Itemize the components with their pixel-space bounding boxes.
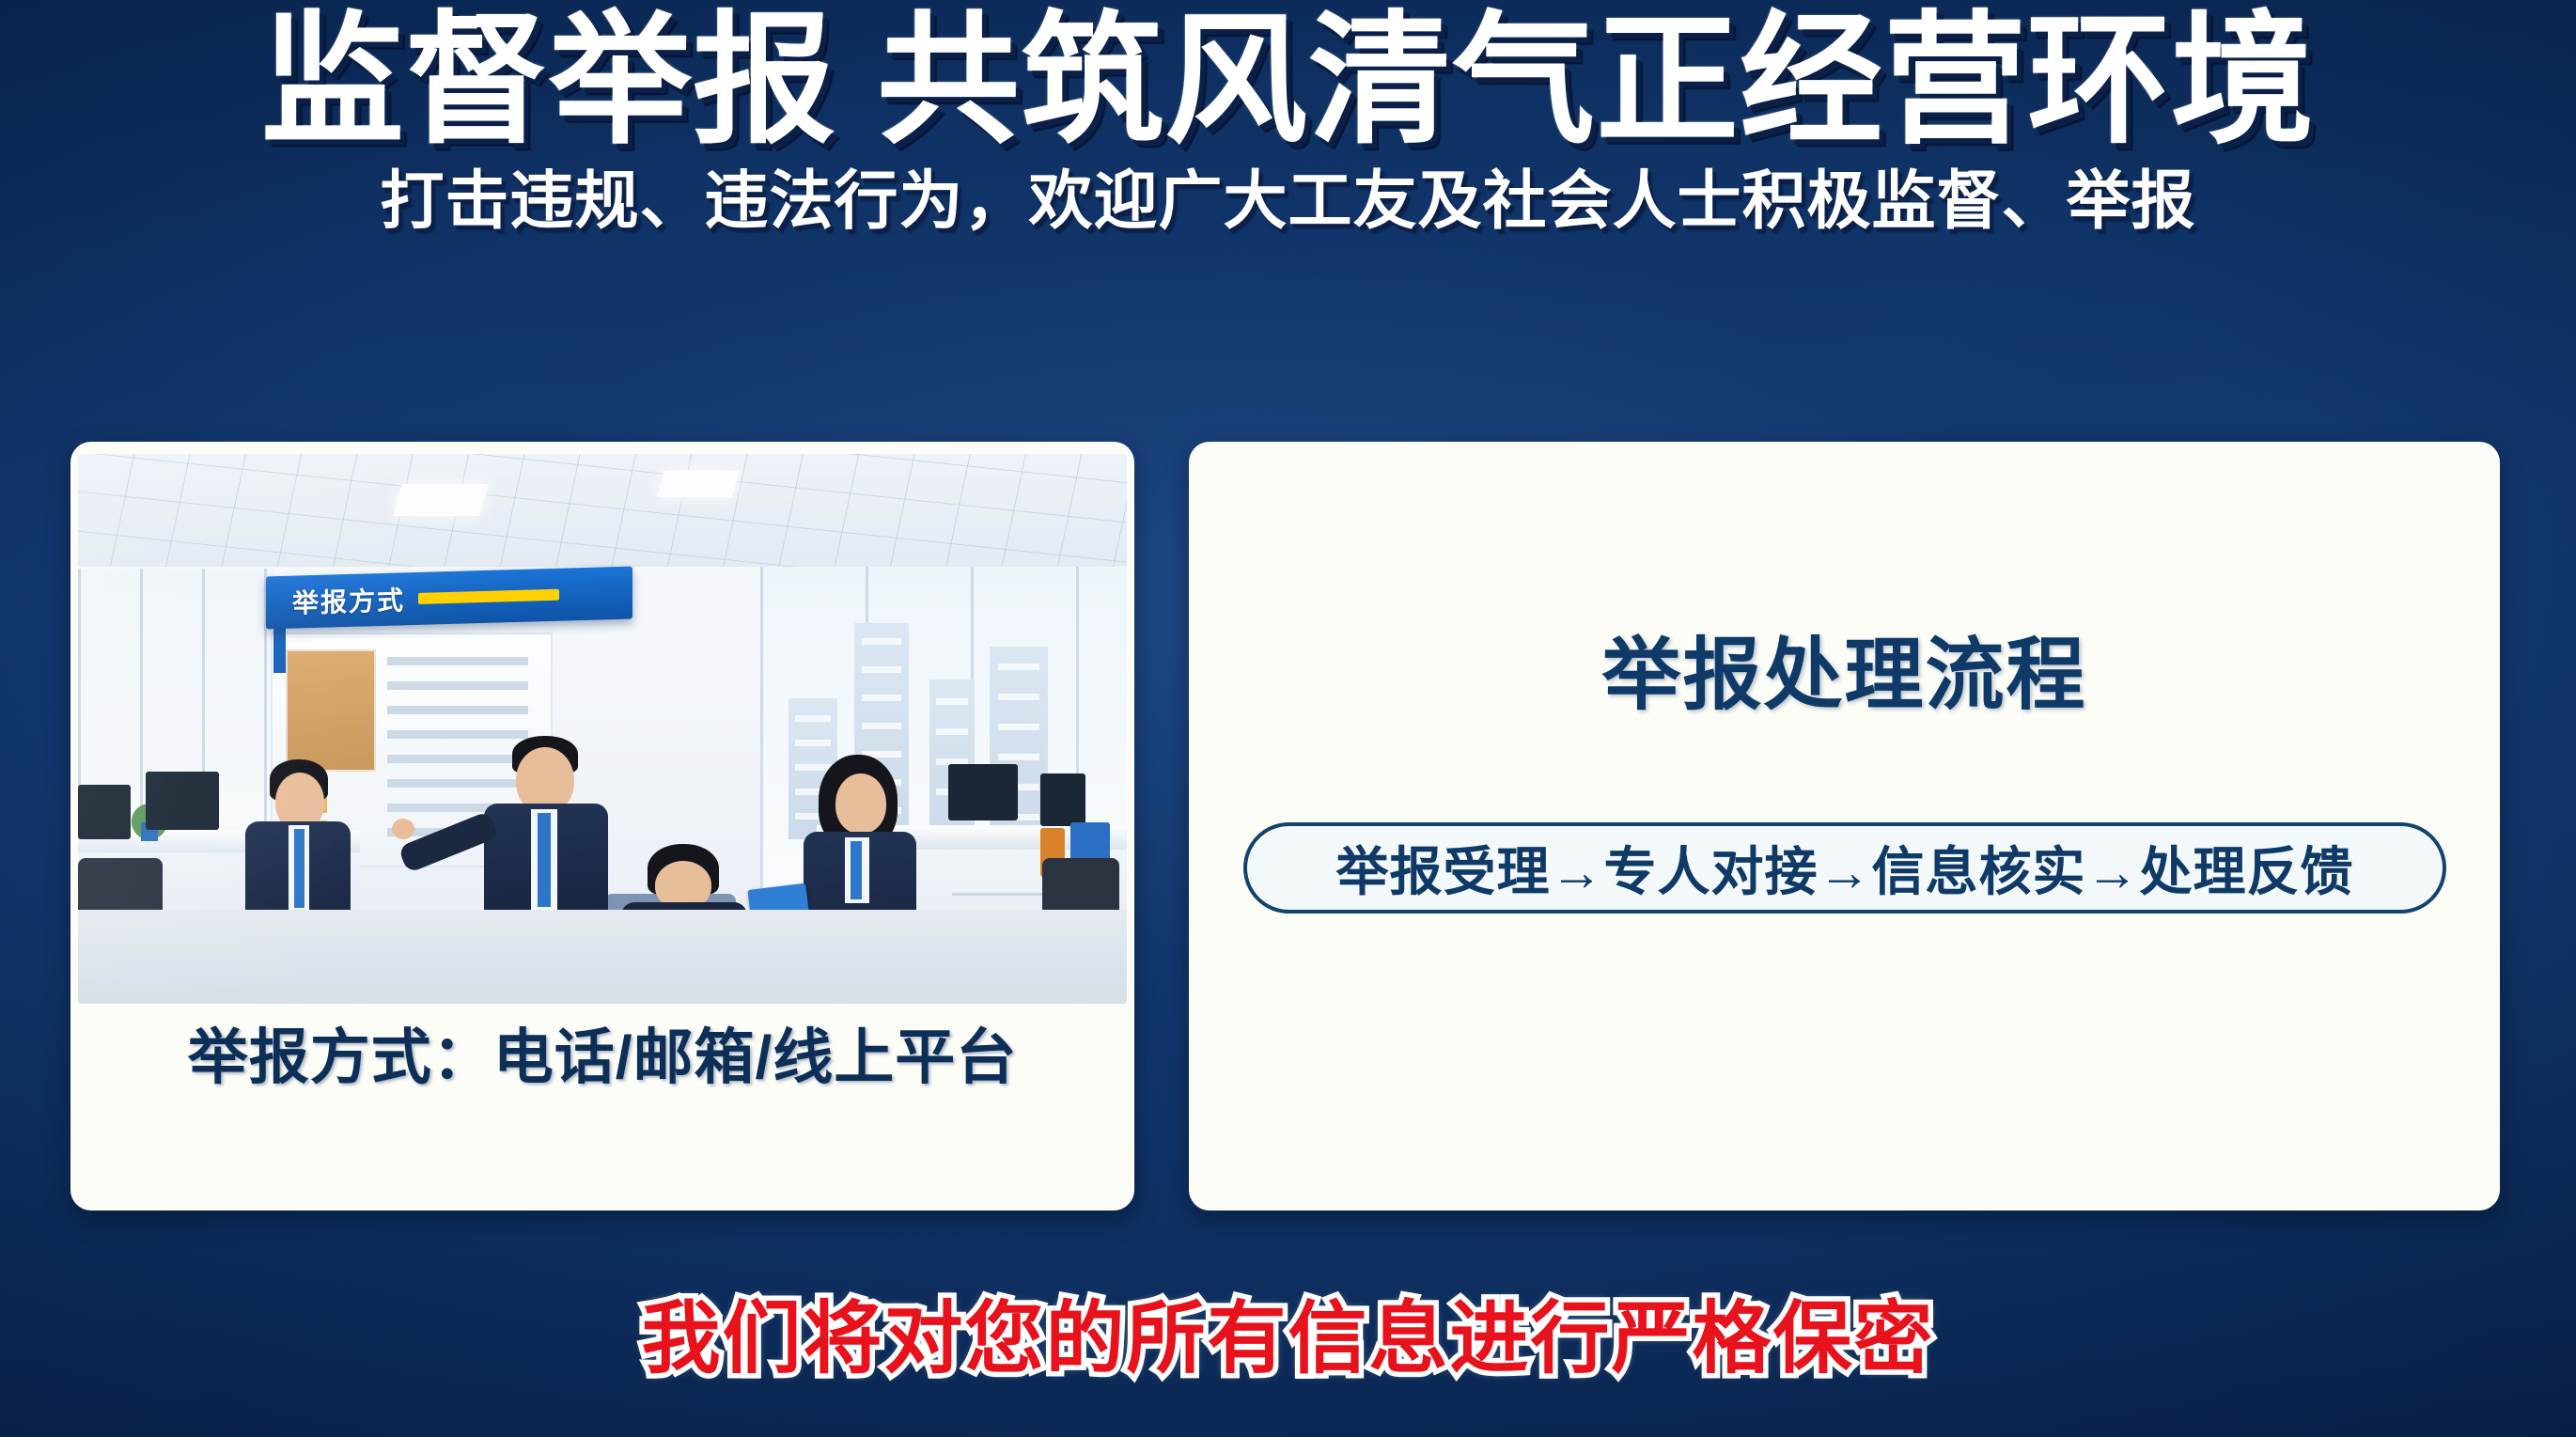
page-title: 监督举报 共筑风清气正经营环境 — [0, 6, 2576, 156]
reporting-process-flow-text: 举报受理→专人对接→信息核实→处理反馈 — [1336, 830, 2354, 906]
photo-highlight-overlay — [78, 454, 1127, 1004]
confidentiality-note: 我们将对您的所有信息进行严格保密 — [0, 1288, 2576, 1389]
reporting-process-flow-pill: 举报受理→专人对接→信息核实→处理反馈 — [1243, 822, 2446, 914]
reporting-process-title: 举报处理流程 — [1189, 623, 2500, 726]
poster-stage: 监督举报 共筑风清气正经营环境 打击违规、违法行为，欢迎广大工友及社会人士积极监… — [0, 0, 2576, 1437]
office-photo: 举报方式 — [78, 454, 1127, 1004]
office-photo-scene: 举报方式 — [78, 454, 1127, 1004]
reporting-channels-card: 举报方式 — [70, 442, 1134, 1211]
reporting-process-card: 举报处理流程 举报受理→专人对接→信息核实→处理反馈 — [1189, 442, 2500, 1211]
reporting-channels-caption: 举报方式：电话/邮箱/线上平台 — [70, 1017, 1134, 1098]
page-subtitle: 打击违规、违法行为，欢迎广大工友及社会人士积极监督、举报 — [0, 158, 2576, 244]
